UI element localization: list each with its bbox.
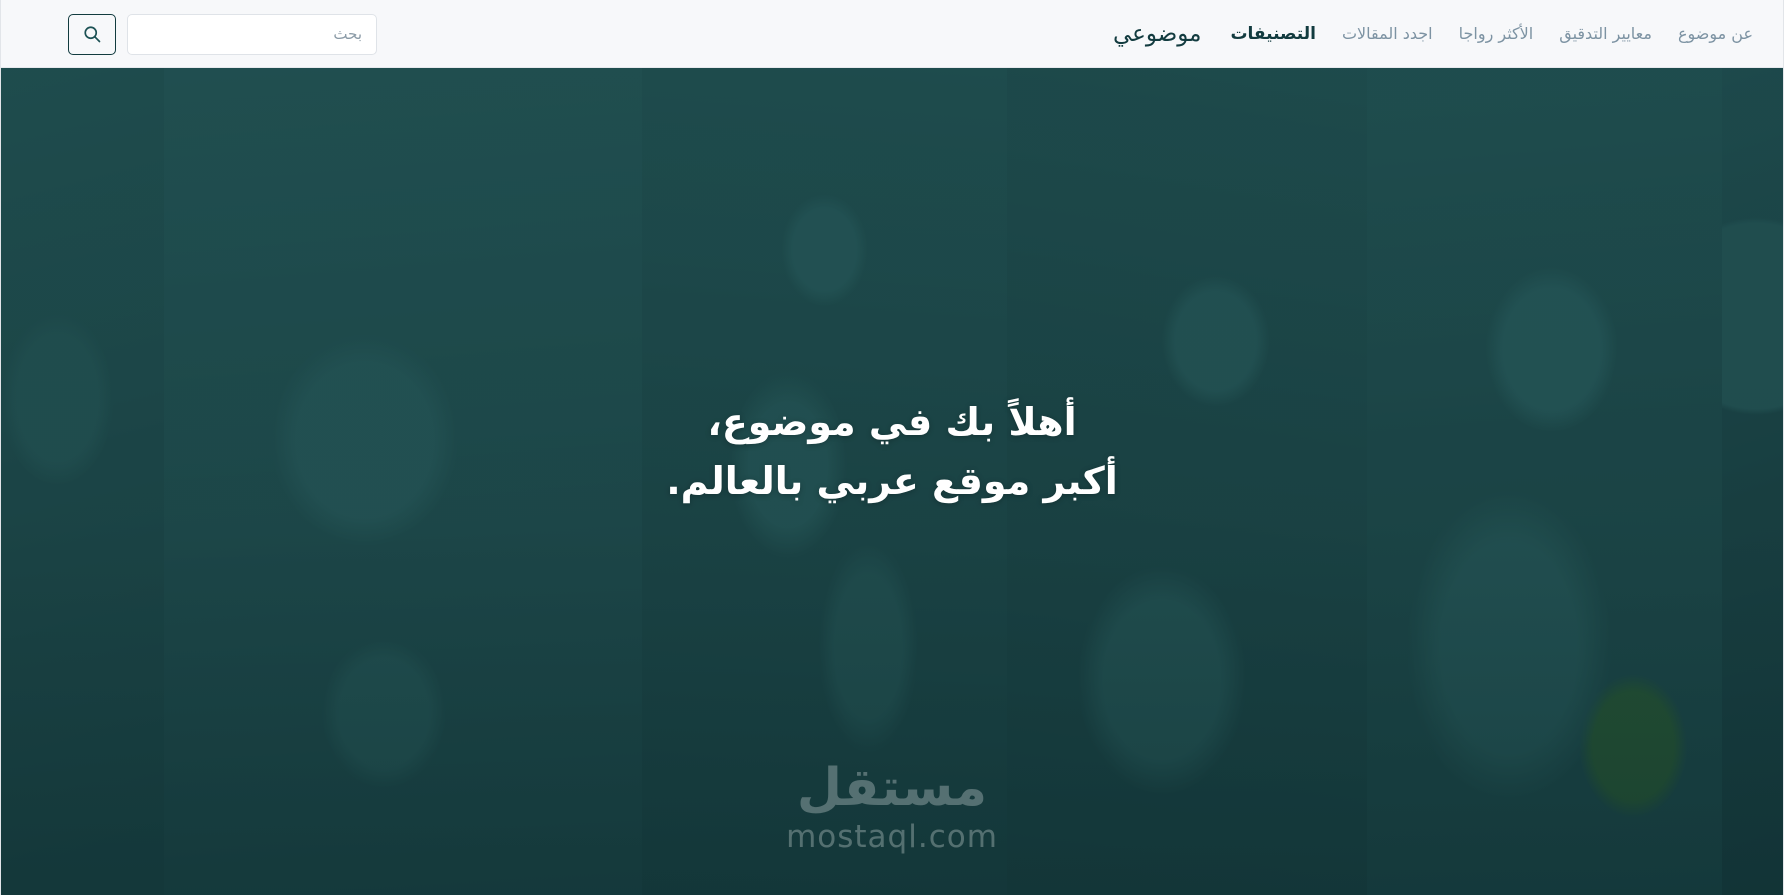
hero-headline: أهلاً بك في موضوع، أكبر موقع عربي بالعال… xyxy=(666,393,1118,511)
watermark-arabic-text: مستقل xyxy=(797,762,987,814)
primary-navigation: عن موضوع معايير التدقيق الأكثر رواجا اجد… xyxy=(1083,0,1766,68)
search-cluster xyxy=(0,0,377,68)
nav-item-most-popular[interactable]: الأكثر رواجا xyxy=(1446,0,1547,68)
page-frame-left-edge xyxy=(0,0,1,895)
site-brand-logo[interactable]: موضوعي xyxy=(1083,0,1218,68)
watermark-latin-text: mostaql.com xyxy=(786,822,998,853)
top-navigation-bar: عن موضوع معايير التدقيق الأكثر رواجا اجد… xyxy=(0,0,1784,68)
nav-item-review-standards[interactable]: معايير التدقيق xyxy=(1546,0,1665,68)
search-input[interactable] xyxy=(127,14,377,55)
nav-item-about[interactable]: عن موضوع xyxy=(1665,0,1766,68)
nav-item-newest-articles[interactable]: اجدد المقالات xyxy=(1329,0,1446,68)
search-icon xyxy=(82,24,102,44)
hero-headline-line-2: أكبر موقع عربي بالعالم. xyxy=(666,452,1118,511)
search-submit-button[interactable] xyxy=(68,14,116,55)
hero-headline-line-1: أهلاً بك في موضوع، xyxy=(666,393,1118,452)
nav-item-categories[interactable]: التصنيفات xyxy=(1217,0,1328,68)
hero-banner: أهلاً بك في موضوع، أكبر موقع عربي بالعال… xyxy=(0,68,1784,895)
mostaql-watermark: مستقل mostaql.com xyxy=(786,762,998,853)
nav-links-list: عن موضوع معايير التدقيق الأكثر رواجا اجد… xyxy=(1217,0,1766,68)
page-root: عن موضوع معايير التدقيق الأكثر رواجا اجد… xyxy=(0,0,1784,895)
